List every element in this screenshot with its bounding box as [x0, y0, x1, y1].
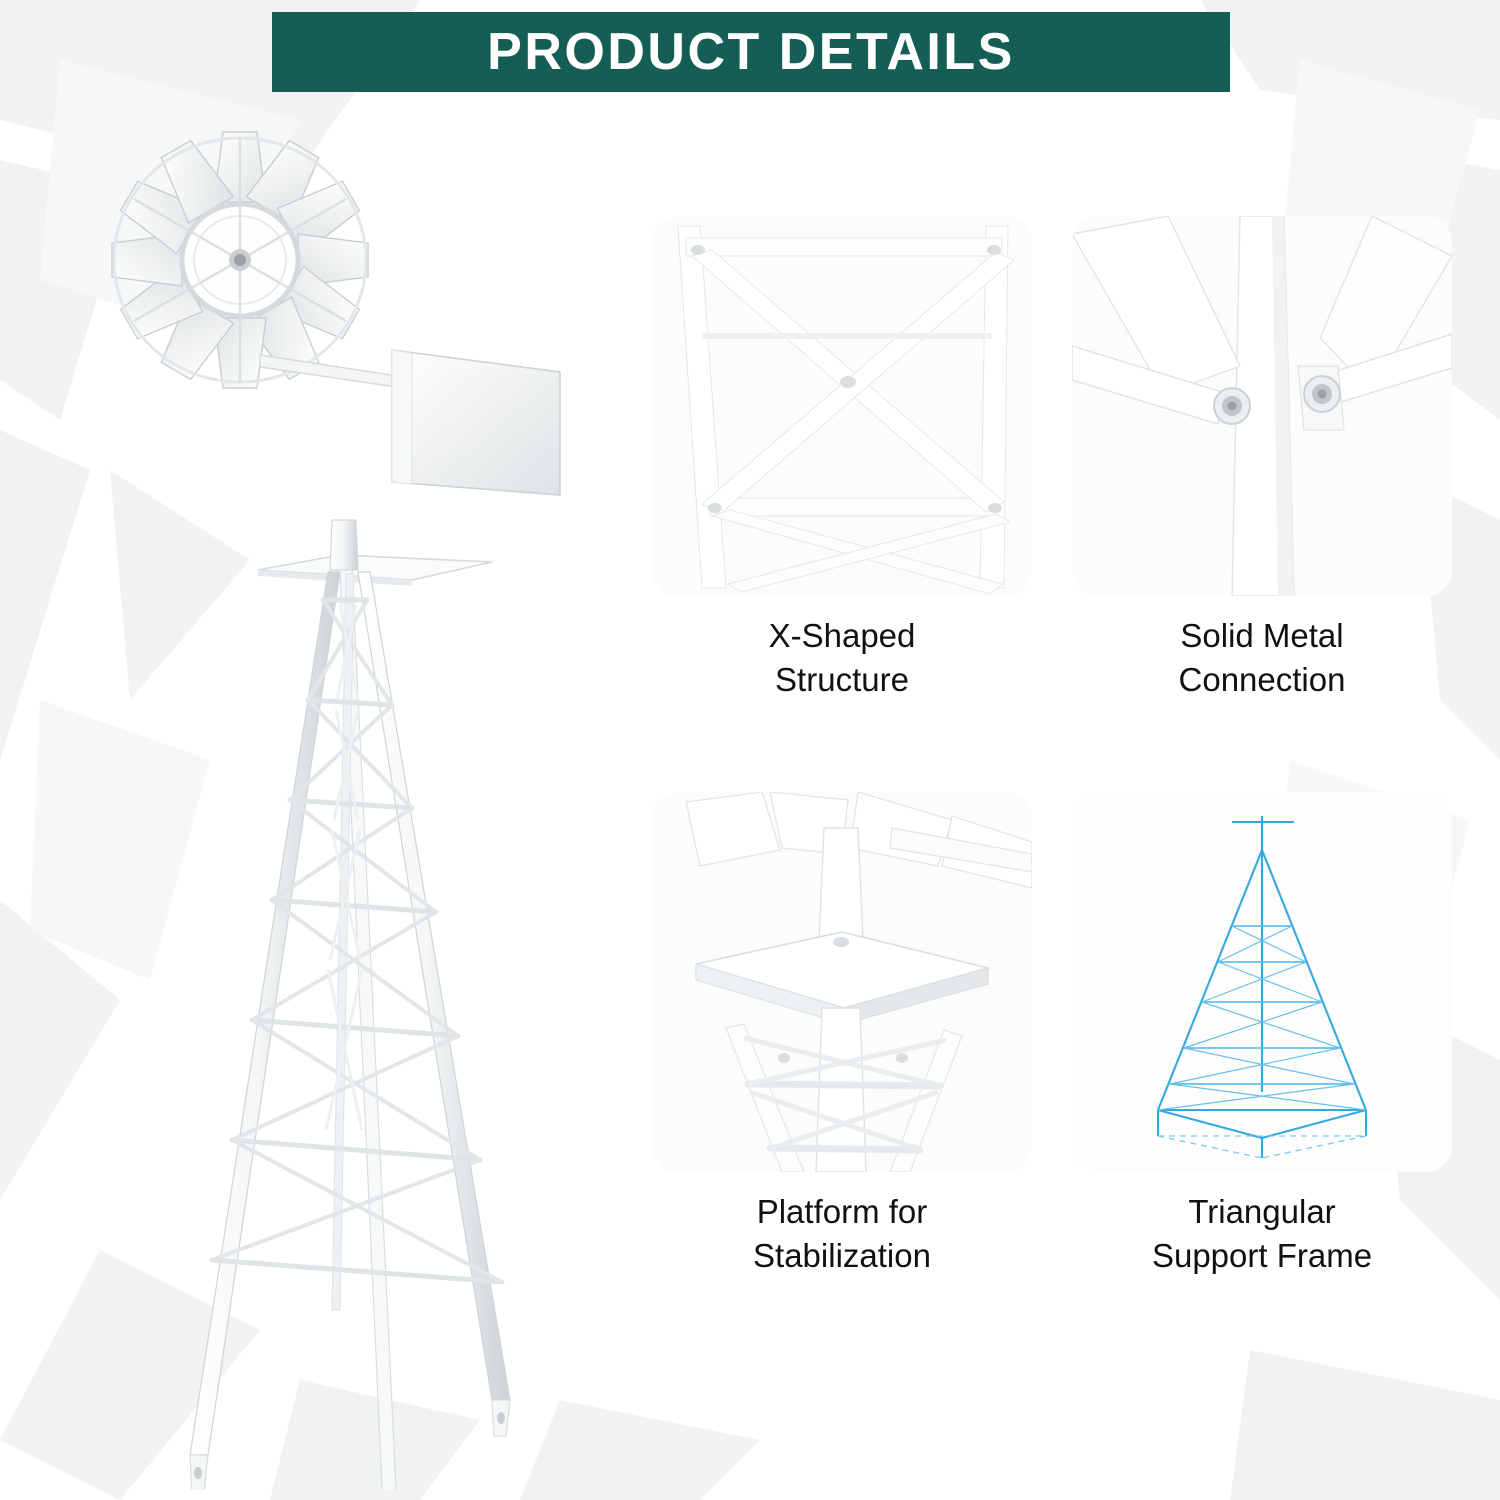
bolt-left: [1214, 388, 1250, 424]
feature-card-triangular-support-frame: Triangular Support Frame: [1072, 792, 1452, 1332]
feature-card-solid-metal-connection: Solid Metal Connection: [1072, 216, 1452, 756]
product-details-page: PRODUCT DETAILS: [0, 0, 1500, 1500]
close-up-square-platform-under-wheel: [652, 792, 1032, 1172]
blue-wireframe-triangular-tower-diagram: [1072, 792, 1452, 1172]
close-up-x-braced-tower-section: [652, 216, 1032, 596]
feature-card-x-shaped-structure: X-Shaped Structure: [652, 216, 1032, 756]
windmill-tower: [190, 520, 510, 1490]
page-title-banner: PRODUCT DETAILS: [272, 12, 1230, 92]
feature-card-platform-for-stabilization: Platform for Stabilization: [652, 792, 1032, 1332]
feature-image-solid-metal-connection: [1072, 216, 1452, 596]
feature-label-x-shaped-structure: X-Shaped Structure: [652, 614, 1032, 701]
feature-label-triangular-support-frame: Triangular Support Frame: [1072, 1190, 1452, 1277]
close-up-bolted-blade-hub-joint: [1072, 216, 1452, 596]
feature-label-platform-for-stabilization: Platform for Stabilization: [652, 1190, 1032, 1277]
feature-image-platform-for-stabilization: [652, 792, 1032, 1172]
feature-image-triangular-support-frame: [1072, 792, 1452, 1172]
feature-label-solid-metal-connection: Solid Metal Connection: [1072, 614, 1452, 701]
hero-product-image: [40, 100, 640, 1490]
tower-ground-stakes: [190, 1400, 510, 1490]
feature-image-x-shaped-structure: [652, 216, 1032, 596]
bolt-right: [1304, 376, 1340, 412]
feature-grid: X-Shaped Structure: [652, 216, 1452, 1356]
page-title: PRODUCT DETAILS: [487, 22, 1015, 82]
metal-windmill-full-view: [40, 100, 640, 1490]
windmill-tail-vane: [392, 350, 560, 495]
stabilization-platform: [258, 555, 492, 586]
